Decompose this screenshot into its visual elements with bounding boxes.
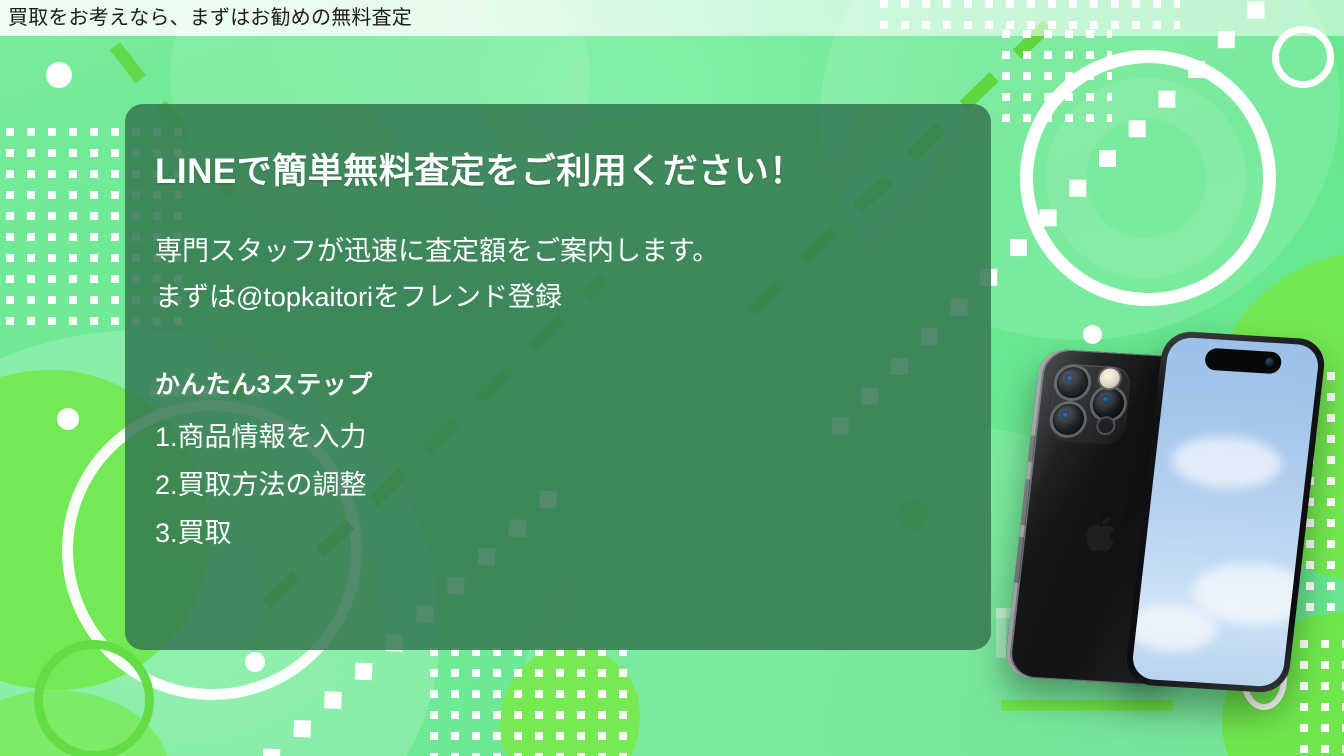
white-dot-top-left xyxy=(46,62,72,88)
camera-lens-icon xyxy=(1055,366,1089,399)
apple-logo-icon xyxy=(1082,511,1125,557)
steps-title: かんたん3ステップ xyxy=(155,365,991,401)
list-item: 2.買取方法の調整 xyxy=(155,461,991,509)
lime-blob-bottom-center xyxy=(500,646,640,756)
card-description: 専門スタッフが迅速に査定額をご案内します。 まずは@topkaitoriをフレン… xyxy=(155,228,991,321)
dynamic-island xyxy=(1203,348,1281,375)
camera-lens-icon xyxy=(1091,387,1125,420)
steps-list: 1.商品情報を入力 2.買取方法の調整 3.買取 xyxy=(155,413,991,557)
volume-down-button-icon xyxy=(1013,537,1024,583)
camera-module xyxy=(1047,363,1132,445)
tonal-ring-top-right xyxy=(1046,78,1246,278)
white-dot-left xyxy=(57,408,79,430)
white-dot-bottom-left xyxy=(245,652,265,672)
card-description-line-1: 専門スタッフが迅速に査定額をご案内します。 xyxy=(155,228,991,274)
phone-screen xyxy=(1131,336,1321,687)
lime-blob-bottom-left xyxy=(0,690,170,756)
list-item: 3.買取 xyxy=(155,509,991,557)
green-ring-icon xyxy=(34,640,154,756)
mute-switch-icon xyxy=(1027,436,1036,462)
dot-grid-top-right xyxy=(1002,30,1112,125)
top-banner-bar: 買取をお考えなら、まずはお勧めの無料査定 xyxy=(0,0,1344,36)
top-banner-text: 買取をお考えなら、まずはお勧めの無料査定 xyxy=(0,8,412,28)
camera-lens-icon xyxy=(1051,403,1085,436)
product-photo-iphones xyxy=(1004,330,1344,756)
banner-stage: LINEで簡単無料査定をご利用ください！ 専門スタッフが迅速に査定額をご案内しま… xyxy=(0,0,1344,756)
list-item: 1.商品情報を入力 xyxy=(155,413,991,461)
promo-card: LINEで簡単無料査定をご利用ください！ 専門スタッフが迅速に査定額をご案内しま… xyxy=(125,104,991,650)
volume-up-button-icon xyxy=(1020,479,1031,525)
dot-grid-bottom xyxy=(430,648,630,756)
cloud-wallpaper-element xyxy=(1169,433,1285,491)
white-ring-large-icon xyxy=(1020,50,1276,306)
card-description-line-2: まずは@topkaitoriをフレンド登録 xyxy=(155,274,991,320)
camera-flash-icon xyxy=(1099,368,1121,389)
lidar-sensor-icon xyxy=(1098,418,1115,434)
card-title: LINEで簡単無料査定をご利用ください！ xyxy=(155,150,991,194)
